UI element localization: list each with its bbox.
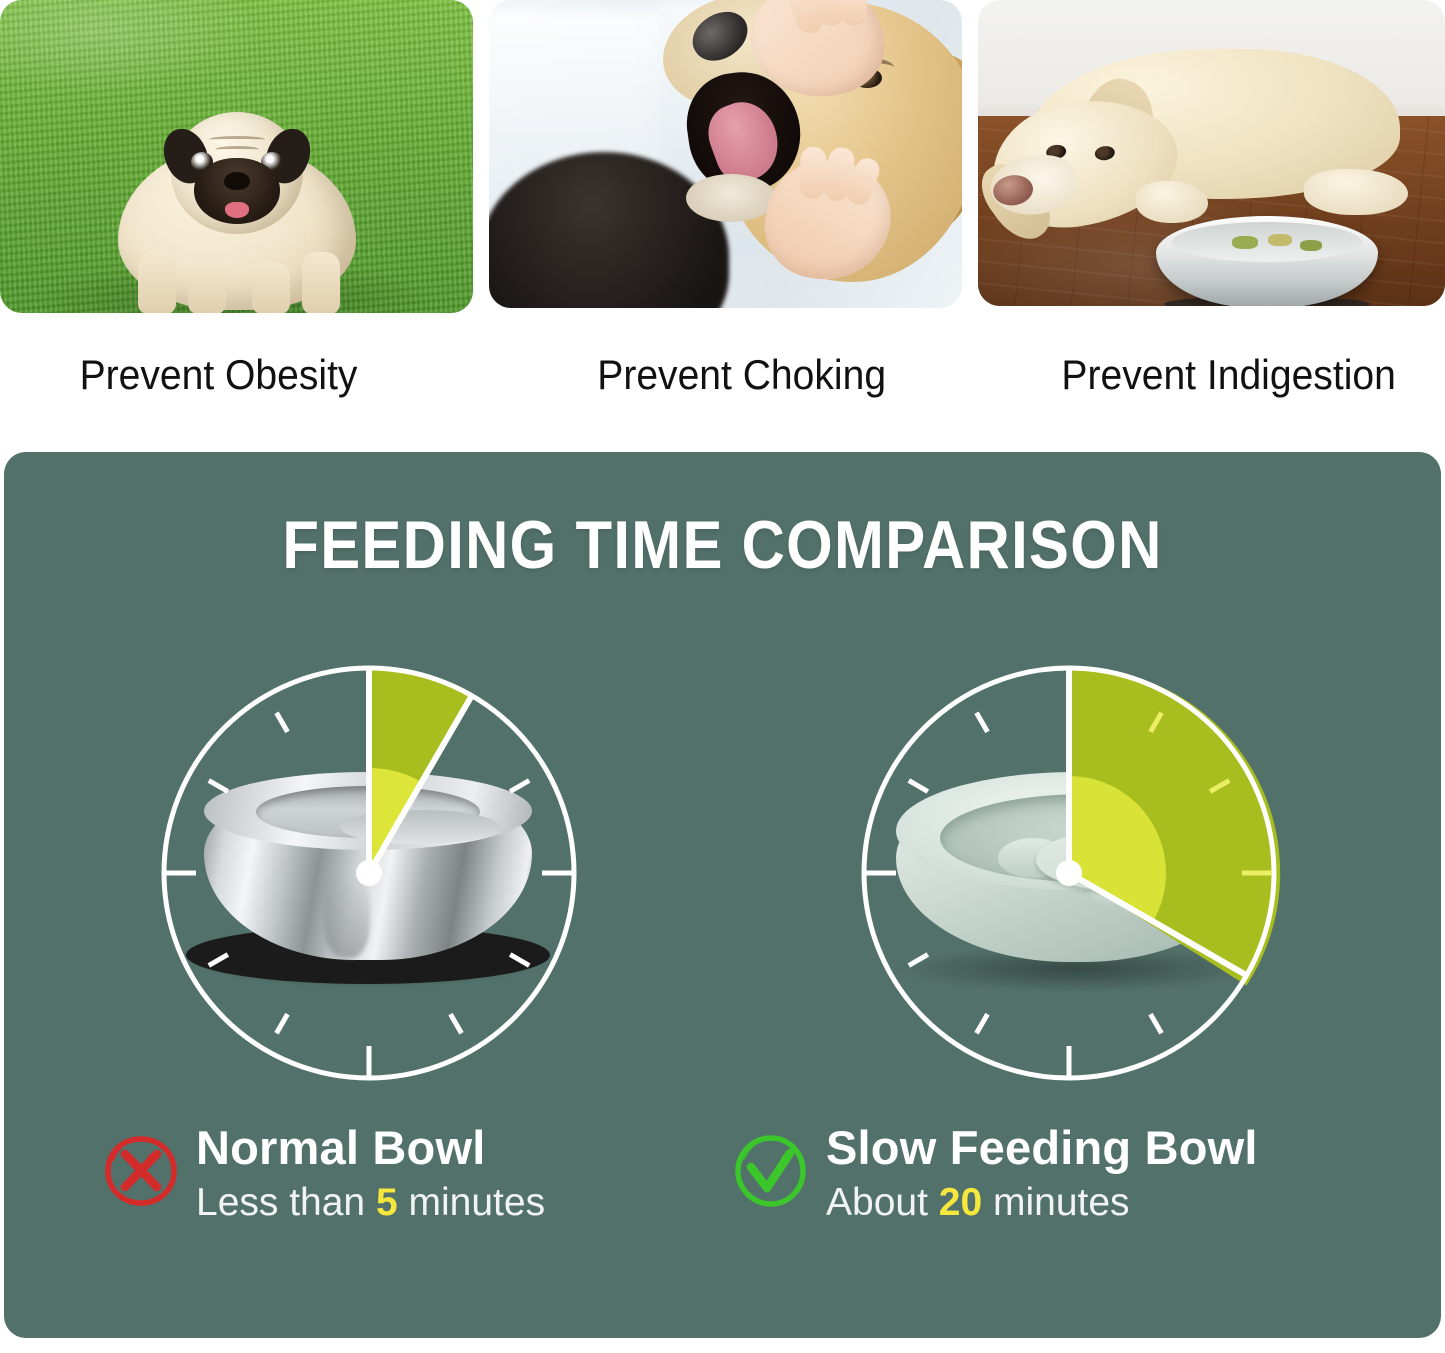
legend-title-slow-feeding-bowl: Slow Feeding Bowl bbox=[826, 1120, 1258, 1176]
legend-sub-suffix: minutes bbox=[398, 1181, 545, 1224]
clock-gauges bbox=[4, 648, 1441, 1098]
check-circle-icon bbox=[734, 1134, 808, 1208]
dial-slow-feeding-bowl bbox=[854, 648, 1284, 1098]
clock-gauge-normal-bowl bbox=[154, 648, 584, 1098]
feeding-time-comparison-panel: FEEDING TIME COMPARISON bbox=[4, 452, 1441, 1338]
legend-sub-number: 5 bbox=[376, 1181, 398, 1224]
dial-center-hub bbox=[356, 860, 382, 886]
cross-circle-icon bbox=[104, 1134, 178, 1208]
legend-item-normal-bowl: Normal Bowl Less than 5 minutes bbox=[104, 1120, 545, 1228]
benefit-caption-row: Prevent Obesity Prevent Choking Prevent … bbox=[0, 330, 1445, 420]
legend-sub-number: 20 bbox=[939, 1181, 982, 1224]
legend-sub-slow-feeding-bowl: About 20 minutes bbox=[826, 1178, 1258, 1228]
caption-prevent-choking: Prevent Choking bbox=[542, 330, 955, 420]
panel-title: FEEDING TIME COMPARISON bbox=[90, 506, 1355, 584]
legend-item-slow-feeding-bowl: Slow Feeding Bowl About 20 minutes bbox=[734, 1120, 1258, 1228]
legend-title-normal-bowl: Normal Bowl bbox=[196, 1120, 545, 1176]
photo-card-prevent-choking bbox=[489, 0, 962, 308]
dial-normal-bowl bbox=[154, 648, 584, 1098]
comparison-legend: Normal Bowl Less than 5 minutes Slow Fee… bbox=[4, 1120, 1441, 1280]
legend-sub-normal-bowl: Less than 5 minutes bbox=[196, 1178, 545, 1228]
metal-food-bowl bbox=[1156, 196, 1378, 306]
benefit-photo-strip bbox=[0, 0, 1445, 320]
dial-center-hub bbox=[1056, 860, 1082, 886]
golden-retriever-illustration bbox=[648, 0, 962, 308]
legend-sub-prefix: About bbox=[826, 1181, 939, 1224]
photo-card-prevent-indigestion bbox=[978, 0, 1445, 306]
legend-sub-suffix: minutes bbox=[982, 1181, 1129, 1224]
caption-prevent-indigestion: Prevent Indigestion bbox=[987, 330, 1428, 420]
photo-card-prevent-obesity bbox=[0, 0, 473, 313]
caption-prevent-obesity: Prevent Obesity bbox=[18, 330, 507, 420]
legend-sub-prefix: Less than bbox=[196, 1181, 376, 1224]
overweight-pug-illustration bbox=[112, 106, 362, 313]
clock-gauge-slow-feeding-bowl bbox=[854, 648, 1284, 1098]
